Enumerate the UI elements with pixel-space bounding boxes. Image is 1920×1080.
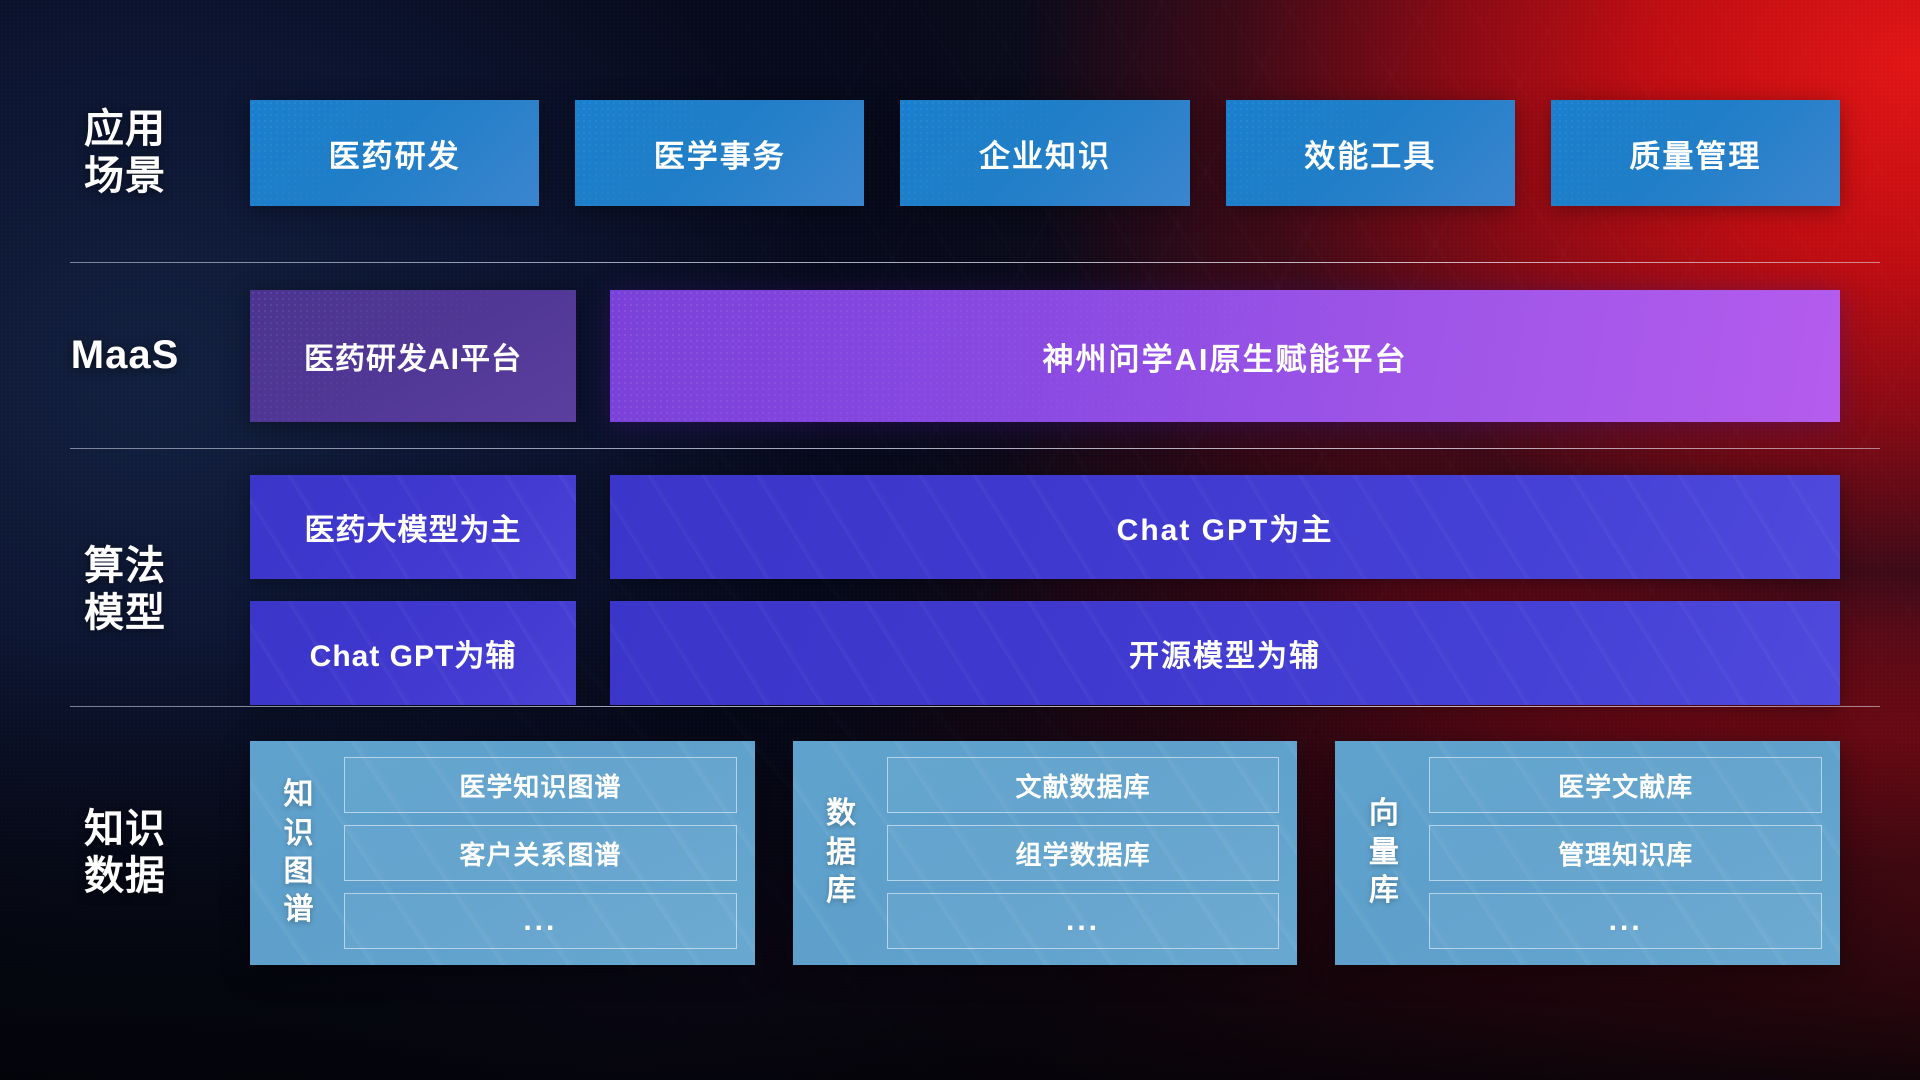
divider-scenarios-maas xyxy=(70,262,1880,263)
maas-box-pharma-ai-platform[interactable]: 医药研发AI平台 xyxy=(250,290,576,422)
scenario-box-1[interactable]: 医药研发 xyxy=(250,100,539,206)
knowledge-item-customer-relation-graph[interactable]: 客户关系图谱 xyxy=(344,825,737,881)
divider-maas-algorithm xyxy=(70,448,1880,449)
slide-canvas: 应用 场景 医药研发 医学事务 企业知识 效能工具 质量管理 MaaS 医药研发… xyxy=(0,0,1920,1080)
maas-box-group: 医药研发AI平台 神州问学AI原生赋能平台 xyxy=(250,290,1840,422)
knowledge-item-omics-database[interactable]: 组学数据库 xyxy=(887,825,1280,881)
row-label-knowledge-data: 知识 数据 xyxy=(0,806,250,900)
architecture-diagram: 应用 场景 医药研发 医学事务 企业知识 效能工具 质量管理 MaaS 医药研发… xyxy=(0,0,1920,1080)
knowledge-panel-database[interactable]: 数 据 库 文献数据库 组学数据库 ... xyxy=(793,741,1298,965)
knowledge-item-literature-database[interactable]: 文献数据库 xyxy=(887,757,1280,813)
algorithm-box-primary-right[interactable]: Chat GPT为主 xyxy=(610,475,1840,579)
scenario-box-4[interactable]: 效能工具 xyxy=(1226,100,1515,206)
knowledge-item-medical-knowledge-graph[interactable]: 医学知识图谱 xyxy=(344,757,737,813)
row-label-algorithm-model: 算法 模型 xyxy=(0,543,250,637)
row-label-application-scenarios: 应用 场景 xyxy=(0,106,250,200)
scenario-box-5[interactable]: 质量管理 xyxy=(1551,100,1840,206)
divider-algorithm-knowledge xyxy=(70,706,1880,707)
row-algorithm-model: 算法 模型 医药大模型为主 Chat GPT为主 Chat GPT为辅 开源模型… xyxy=(0,475,1920,705)
row-body-maas: 医药研发AI平台 神州问学AI原生赋能平台 xyxy=(250,290,1920,422)
knowledge-item-list-database: 文献数据库 组学数据库 ... xyxy=(887,757,1280,949)
row-label-maas: MaaS xyxy=(0,332,250,379)
knowledge-item-medical-literature-store[interactable]: 医学文献库 xyxy=(1429,757,1822,813)
algorithm-line-2: Chat GPT为辅 开源模型为辅 xyxy=(250,601,1840,705)
knowledge-item-list-vector-store: 医学文献库 管理知识库 ... xyxy=(1429,757,1822,949)
knowledge-item-more-graph[interactable]: ... xyxy=(344,893,737,949)
scenario-box-2[interactable]: 医学事务 xyxy=(575,100,864,206)
row-application-scenarios: 应用 场景 医药研发 医学事务 企业知识 效能工具 质量管理 xyxy=(0,100,1920,206)
knowledge-panel-vector-store[interactable]: 向 量 库 医学文献库 管理知识库 ... xyxy=(1335,741,1840,965)
maas-box-shenzhou-platform[interactable]: 神州问学AI原生赋能平台 xyxy=(610,290,1840,422)
row-maas: MaaS 医药研发AI平台 神州问学AI原生赋能平台 xyxy=(0,290,1920,422)
row-knowledge-data: 知识 数据 知 识 图 谱 医学知识图谱 客户关系图谱 ... 数 据 库 xyxy=(0,732,1920,974)
knowledge-item-management-knowledge-store[interactable]: 管理知识库 xyxy=(1429,825,1822,881)
knowledge-panel-knowledge-graph[interactable]: 知 识 图 谱 医学知识图谱 客户关系图谱 ... xyxy=(250,741,755,965)
algorithm-box-secondary-right[interactable]: 开源模型为辅 xyxy=(610,601,1840,705)
knowledge-item-more-vector-store[interactable]: ... xyxy=(1429,893,1822,949)
knowledge-panel-group: 知 识 图 谱 医学知识图谱 客户关系图谱 ... 数 据 库 文献数据库 组学… xyxy=(250,741,1840,965)
algorithm-line-1: 医药大模型为主 Chat GPT为主 xyxy=(250,475,1840,579)
knowledge-item-more-database[interactable]: ... xyxy=(887,893,1280,949)
algorithm-box-primary-left[interactable]: 医药大模型为主 xyxy=(250,475,576,579)
row-body-knowledge-data: 知 识 图 谱 医学知识图谱 客户关系图谱 ... 数 据 库 文献数据库 组学… xyxy=(250,741,1920,965)
algorithm-box-group: 医药大模型为主 Chat GPT为主 Chat GPT为辅 开源模型为辅 xyxy=(250,475,1840,705)
scenario-box-group: 医药研发 医学事务 企业知识 效能工具 质量管理 xyxy=(250,100,1840,206)
row-body-algorithm-model: 医药大模型为主 Chat GPT为主 Chat GPT为辅 开源模型为辅 xyxy=(250,475,1920,705)
algorithm-box-secondary-left[interactable]: Chat GPT为辅 xyxy=(250,601,576,705)
knowledge-panel-label-knowledge-graph: 知 识 图 谱 xyxy=(268,757,330,949)
knowledge-panel-label-vector-store: 向 量 库 xyxy=(1353,757,1415,949)
row-body-application-scenarios: 医药研发 医学事务 企业知识 效能工具 质量管理 xyxy=(250,100,1920,206)
knowledge-item-list-knowledge-graph: 医学知识图谱 客户关系图谱 ... xyxy=(344,757,737,949)
knowledge-panel-label-database: 数 据 库 xyxy=(811,757,873,949)
scenario-box-3[interactable]: 企业知识 xyxy=(900,100,1189,206)
